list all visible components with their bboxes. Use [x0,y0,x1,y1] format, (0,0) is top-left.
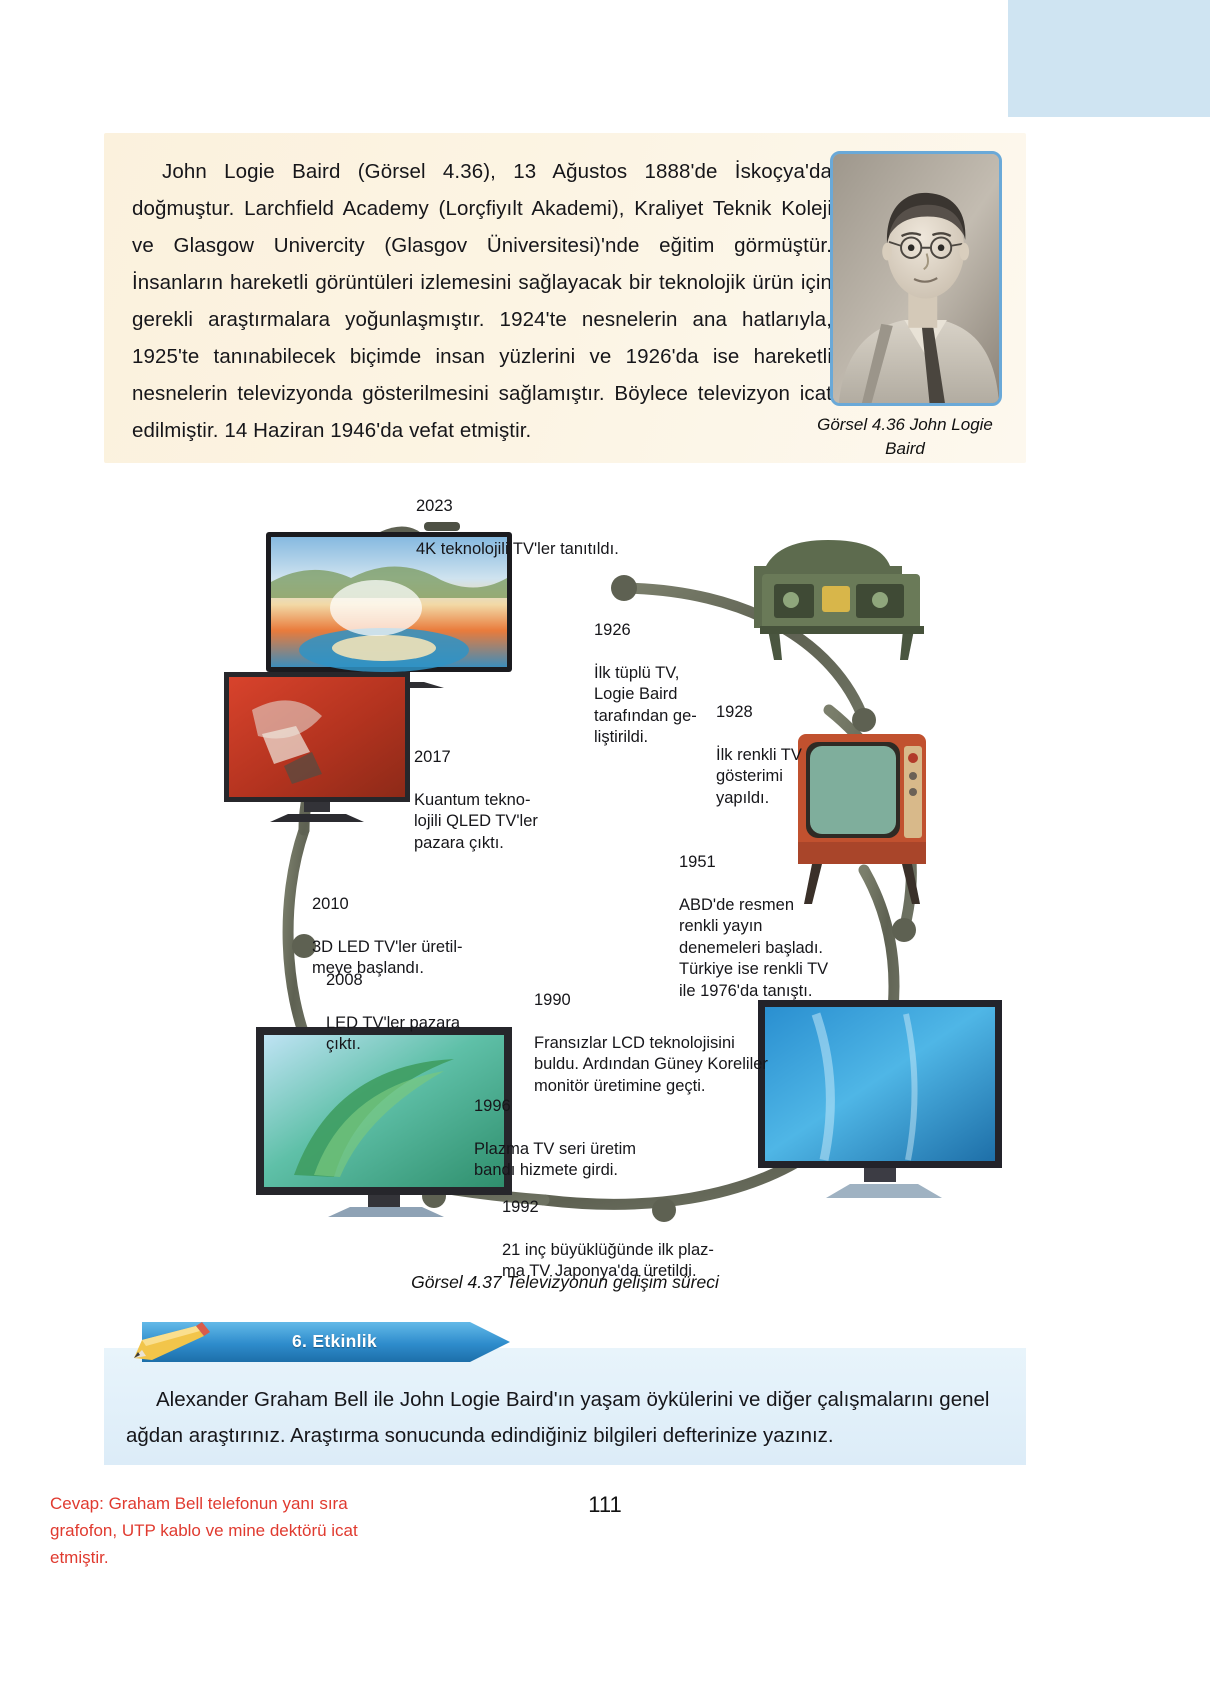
biography-figure-caption: Görsel 4.36 John Logie Baird [810,413,1000,461]
page-number: 111 [0,1492,1210,1518]
timeline-year-1951: 1951 [679,852,828,874]
timeline-entry-1928: 1928 İlk renkli TV gösterimi yapıldı. [716,680,802,809]
device-mechanical-tv-1926 [744,518,944,668]
activity-section: 6. Etkinlik Alexander Graham Bell ile Jo… [104,1320,1026,1465]
activity-instruction: Alexander Graham Bell ile John Logie Bai… [126,1382,1006,1454]
timeline-year-2017: 2017 [414,747,538,769]
device-lcd-monitor-1990 [756,998,1004,1206]
timeline-entry-1992: 1992 21 inç büyüklüğünde ilk plaz- ma TV… [502,1175,714,1283]
timeline-diagram: 2023 4K teknolojili TV'ler tanıtıldı. 19… [104,470,1026,1260]
timeline-text-1926: İlk tüplü TV, Logie Baird tarafından ge-… [594,664,697,747]
timeline-year-2010: 2010 [312,894,462,916]
timeline-text-2008: LED TV'ler pazara çıktı. [326,1014,460,1054]
timeline-year-2023: 2023 [416,496,619,518]
timeline-entry-2017: 2017 Kuantum tekno- lojili QLED TV'ler p… [414,725,538,854]
pencil-icon [130,1322,216,1364]
biography-paragraph: John Logie Baird (Görsel 4.36), 13 Ağust… [132,153,832,449]
timeline-text-2017: Kuantum tekno- lojili QLED TV'ler pazara… [414,791,538,852]
biography-figure [830,151,1002,406]
timeline-entry-2008: 2008 LED TV'ler pazara çıktı. [326,948,460,1056]
timeline-year-1996: 1996 [474,1096,636,1118]
biography-panel: John Logie Baird (Görsel 4.36), 13 Ağust… [104,133,1026,463]
timeline-text-1928: İlk renkli TV gösterimi yapıldı. [716,746,802,807]
timeline-entry-1996: 1996 Plazma TV seri üretim bandı hizmete… [474,1074,636,1182]
john-logie-baird-portrait [833,154,999,403]
timeline-entry-2023: 2023 4K teknolojili TV'ler tanıtıldı. [416,474,619,560]
activity-instruction-text: Alexander Graham Bell ile John Logie Bai… [126,1388,989,1447]
activity-banner: 6. Etkinlik [122,1320,512,1364]
timeline-text-1996: Plazma TV seri üretim bandı hizmete gird… [474,1140,636,1180]
timeline-entry-1926: 1926 İlk tüplü TV, Logie Baird tarafında… [594,598,697,749]
timeline-figure-caption: Görsel 4.37 Televizyonun gelişim süreci [104,1272,1026,1293]
activity-badge-label: 6. Etkinlik [292,1331,377,1352]
biography-paragraph-text: John Logie Baird (Görsel 4.36), 13 Ağust… [132,160,832,442]
timeline-text-2023: 4K teknolojili TV'ler tanıtıldı. [416,540,619,558]
device-qled-tv-2017 [222,670,412,830]
page-corner-tab [1008,0,1210,117]
timeline-year-1990: 1990 [534,990,768,1012]
timeline-year-1926: 1926 [594,620,697,642]
timeline-year-1928: 1928 [716,702,802,724]
timeline-year-1992: 1992 [502,1197,714,1219]
portrait-frame [830,151,1002,406]
timeline-year-2008: 2008 [326,970,460,992]
